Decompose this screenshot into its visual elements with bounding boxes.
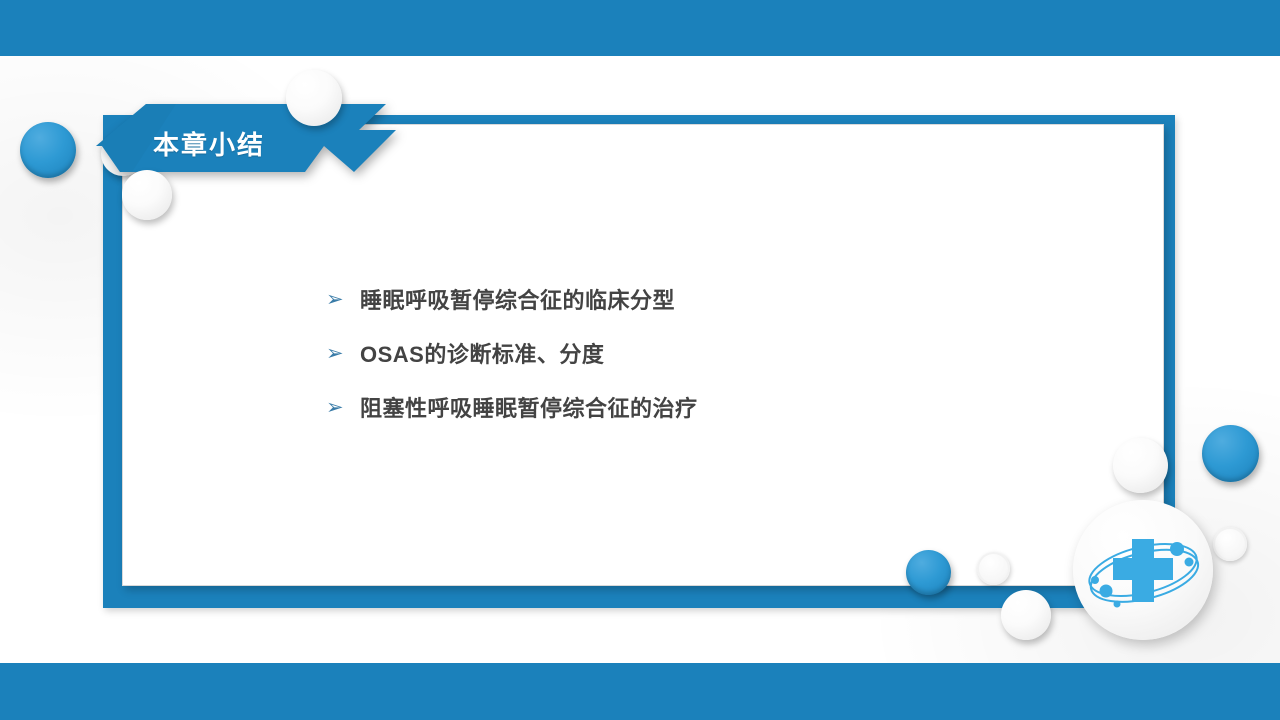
slide-canvas: 本章小结 ➢ 睡眠呼吸暂停综合征的临床分型 ➢ OSAS的诊断标准、分度 ➢ 阻… <box>0 0 1280 720</box>
list-item: ➢ 阻塞性呼吸睡眠暂停综合征的治疗 <box>326 380 1026 434</box>
decor-circle-white-banner-bottom <box>122 170 172 220</box>
bullet-arrow-icon: ➢ <box>326 289 360 310</box>
list-item: ➢ OSAS的诊断标准、分度 <box>326 326 1026 380</box>
decor-circle-white-bottom <box>1001 590 1051 640</box>
summary-bullet-list: ➢ 睡眠呼吸暂停综合征的临床分型 ➢ OSAS的诊断标准、分度 ➢ 阻塞性呼吸睡… <box>326 272 1026 434</box>
decor-circle-blue-left <box>20 122 76 178</box>
decor-circle-white-banner-top <box>286 70 342 126</box>
list-item: ➢ 睡眠呼吸暂停综合征的临床分型 <box>326 272 1026 326</box>
bullet-arrow-icon: ➢ <box>326 397 360 418</box>
list-item-label: 睡眠呼吸暂停综合征的临床分型 <box>360 283 675 315</box>
decor-circle-blue-bottom <box>906 550 951 595</box>
decor-circle-ring-right <box>1213 527 1247 561</box>
section-title-text: 本章小结 <box>153 125 265 162</box>
list-item-label: OSAS的诊断标准、分度 <box>360 337 604 369</box>
bottom-accent-bar <box>0 663 1280 720</box>
top-accent-bar <box>0 0 1280 56</box>
decor-circle-blue-right <box>1202 425 1259 482</box>
bullet-arrow-icon: ➢ <box>326 343 360 364</box>
list-item-label: 阻塞性呼吸睡眠暂停综合征的治疗 <box>360 391 698 423</box>
decor-circle-ring-bottom <box>977 552 1010 585</box>
medical-cross-orbit-icon <box>1073 500 1213 640</box>
decor-circle-white-right <box>1113 438 1168 493</box>
medical-logo-graphic <box>1073 500 1213 640</box>
